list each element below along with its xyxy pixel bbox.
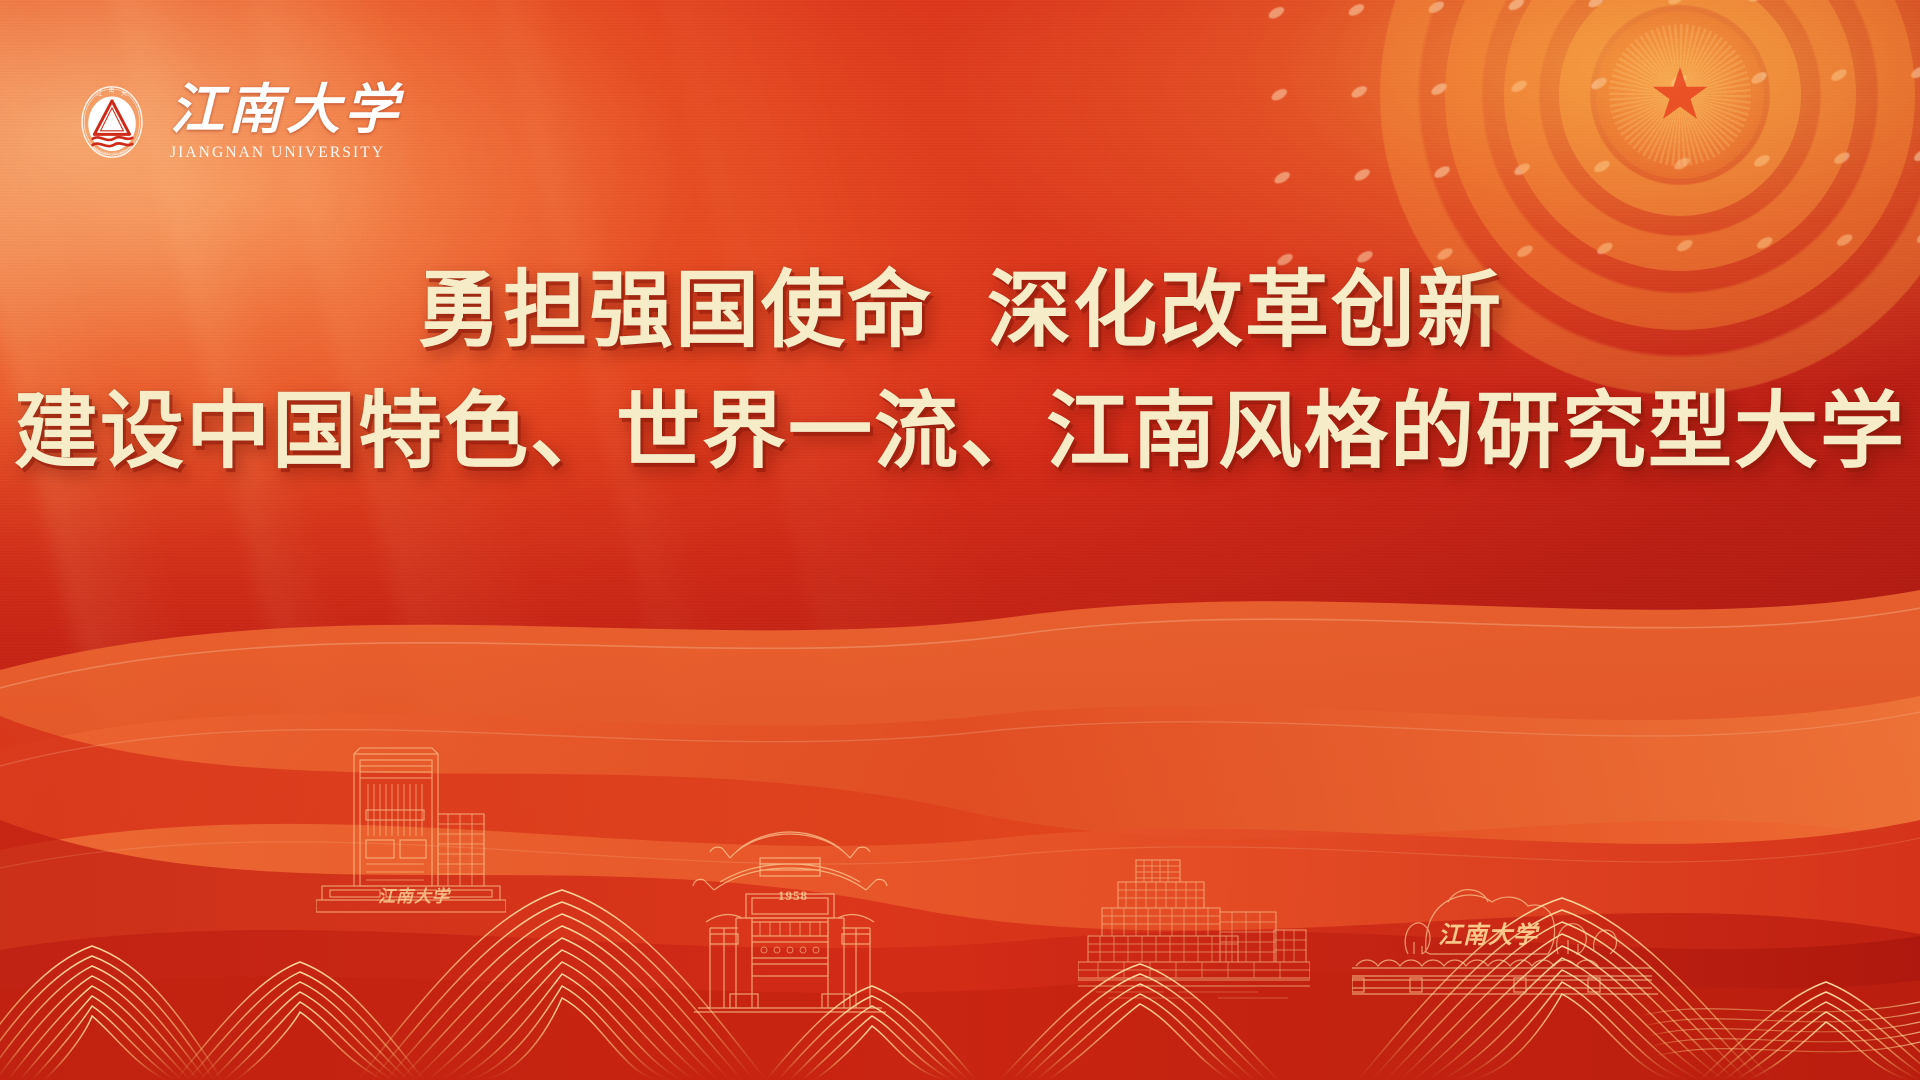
concentric-rings-star-icon (1370, 0, 1920, 405)
campus-stone-marker-lineart-icon (1352, 880, 1682, 1020)
svg-text:江: 江 (96, 91, 102, 98)
jiangnan-university-emblem-icon: 江南大 JIANGNAN UNIVERSITY (68, 78, 156, 166)
campus-hall-lineart-icon (1078, 852, 1310, 1002)
brand-name-en: JIANGNAN UNIVERSITY (170, 144, 402, 162)
chinese-archway-lineart-icon (690, 818, 890, 1014)
banner-poster: 江南大学 (0, 0, 1920, 1080)
library-tower-lineart-icon (316, 740, 506, 920)
svg-text:大: 大 (121, 90, 127, 98)
brand-name-cn: 江南大学 (170, 83, 402, 137)
brand-wordmark: 江南大学 JIANGNAN UNIVERSITY (170, 83, 402, 162)
brand-logo[interactable]: 江南大 JIANGNAN UNIVERSITY 江南大学 JIANGNAN UN… (68, 78, 402, 166)
svg-text:南: 南 (108, 86, 114, 94)
